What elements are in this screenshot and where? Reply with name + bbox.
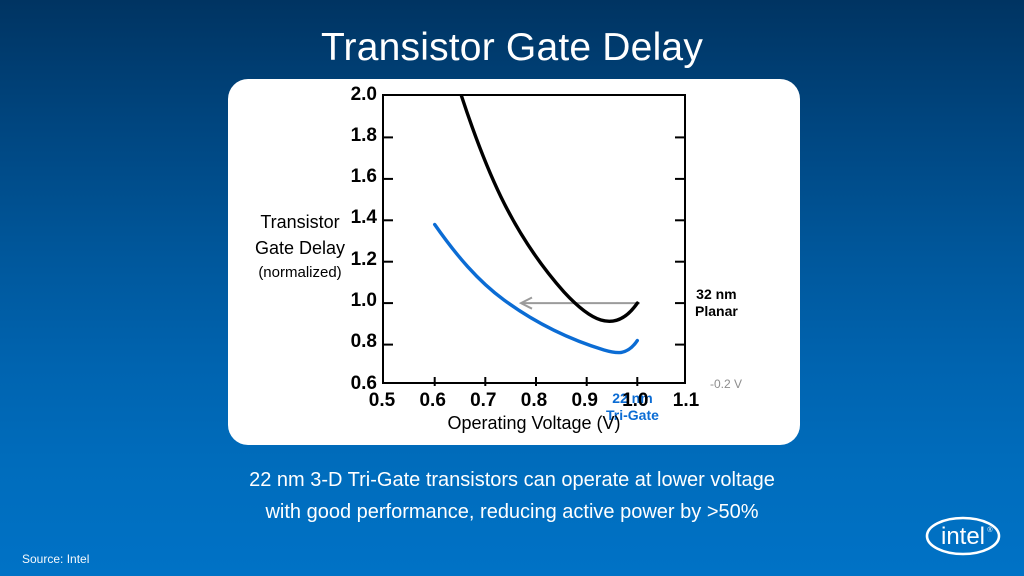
source-note: Source: Intel bbox=[22, 552, 89, 566]
intel-logo-text: intel bbox=[941, 523, 985, 550]
x-tick-label: 1.0 bbox=[610, 390, 660, 412]
y-tick-label: 1.4 bbox=[337, 208, 377, 227]
caption-line-1: 22 nm 3-D Tri-Gate transistors can opera… bbox=[0, 464, 1024, 496]
x-tick-label: 0.5 bbox=[357, 390, 407, 412]
x-axis-title: Operating Voltage (V) bbox=[382, 413, 686, 434]
x-tick-label: 0.7 bbox=[458, 390, 508, 412]
y-tick-label: 1.0 bbox=[337, 291, 377, 310]
x-axis-ticks bbox=[435, 377, 638, 386]
y-tick-label: 1.6 bbox=[337, 167, 377, 186]
series-curve-22nm-trigate bbox=[435, 225, 638, 353]
caption-line-2: with good performance, reducing active p… bbox=[0, 496, 1024, 528]
y-tick-label: 0.8 bbox=[337, 332, 377, 351]
series-label-line2: Planar bbox=[695, 303, 738, 319]
page-title: Transistor Gate Delay bbox=[0, 26, 1024, 70]
x-tick-label: 1.1 bbox=[661, 390, 711, 412]
y-tick-label: 1.2 bbox=[337, 250, 377, 269]
series-label-line1: 32 nm bbox=[696, 286, 736, 302]
intel-logo: intel ® bbox=[924, 514, 1002, 558]
chart-card: Transistor Gate Delay (normalized) 2.0 1… bbox=[228, 79, 800, 445]
x-tick-label: 0.9 bbox=[560, 390, 610, 412]
intel-logo-trademark: ® bbox=[987, 526, 993, 534]
y-tick-label: 1.8 bbox=[337, 126, 377, 145]
slide-caption: 22 nm 3-D Tri-Gate transistors can opera… bbox=[0, 464, 1024, 528]
x-tick-label: 0.8 bbox=[509, 390, 559, 412]
series-label-32nm-planar: 32 nm Planar bbox=[695, 286, 738, 320]
y-axis-ticks bbox=[384, 137, 393, 344]
y-axis-ticks-right bbox=[675, 137, 684, 344]
plot-svg bbox=[382, 94, 690, 388]
annotation-label-minus-0-2v: -0.2 V bbox=[710, 377, 742, 391]
plot-area: 32 nm Planar 22 nm Tri-Gate -0.2 V bbox=[382, 94, 686, 384]
x-tick-label: 0.6 bbox=[408, 390, 458, 412]
y-tick-labels: 2.0 1.8 1.6 1.4 1.2 1.0 0.8 0.6 bbox=[327, 94, 377, 384]
y-tick-label: 2.0 bbox=[337, 85, 377, 104]
